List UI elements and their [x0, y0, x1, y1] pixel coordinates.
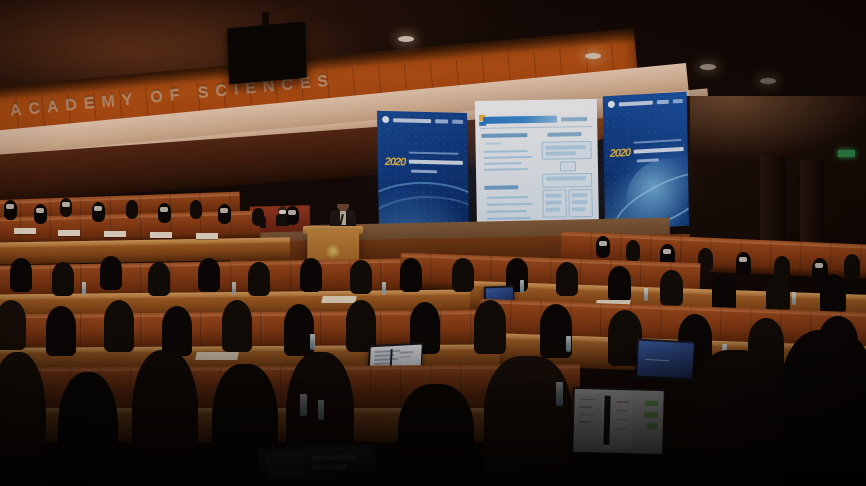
name-card: [14, 228, 36, 234]
chat-bubble: [644, 400, 658, 406]
organizer-name-text: [619, 100, 653, 106]
attendee: [626, 240, 640, 262]
attendee: [52, 262, 74, 296]
attendee: [596, 236, 610, 258]
water-bottle: [82, 282, 86, 295]
water-bottle: [556, 382, 563, 406]
podium-emblem-icon: [326, 244, 340, 258]
ceiling-downlight: [398, 36, 414, 42]
organizer-logo-icon: [608, 101, 615, 108]
ceiling-projector-box: [227, 22, 307, 85]
attendee: [158, 203, 171, 223]
chat-bubble: [644, 412, 658, 418]
attendee: [608, 266, 631, 302]
attendee: [248, 262, 270, 296]
name-card: [150, 232, 172, 238]
attendee: [34, 204, 47, 224]
exit-sign: [838, 150, 855, 157]
attendee: [452, 258, 474, 292]
attendee-foreground: [484, 356, 572, 486]
attendee-foreground: [398, 384, 474, 486]
attendee: [46, 306, 76, 356]
slide-section-heading-1: [481, 133, 527, 138]
name-card: [196, 233, 218, 239]
attendee: [844, 254, 860, 280]
attendee: [556, 262, 578, 296]
right-banner-screen: 2020: [603, 92, 689, 231]
attendee-foreground: [690, 350, 780, 486]
right-banner-year: 2020: [610, 147, 631, 160]
organizer-logo-icon: [382, 116, 389, 123]
conference-hall-photo: ACADEMY OF SCIENCES 2020: [0, 0, 866, 486]
laptop-chat-app[interactable]: [571, 387, 665, 455]
organizer-name-text: [393, 118, 431, 123]
water-bottle: [792, 292, 796, 305]
attendee: [300, 258, 322, 292]
sponsor-logo-icon: [673, 98, 683, 103]
water-bottle: [644, 288, 648, 301]
ceiling-downlight: [585, 53, 601, 59]
attendee: [400, 258, 422, 292]
water-bottle: [232, 282, 236, 295]
attendee: [252, 208, 264, 226]
sponsor-logo-icon: [435, 119, 448, 123]
attendee: [350, 260, 372, 294]
paper-handout: [195, 352, 239, 360]
attendee: [736, 252, 751, 276]
attendee: [104, 300, 134, 352]
attendee: [286, 206, 299, 225]
name-card: [58, 230, 80, 236]
attendee: [162, 306, 192, 356]
ceiling-downlight: [760, 78, 776, 84]
water-bottle: [310, 334, 315, 350]
attendee: [474, 300, 506, 354]
center-presentation-screen: [475, 99, 599, 239]
tablet-foreground[interactable]: [257, 444, 376, 486]
attendee: [10, 258, 32, 292]
attendee-foreground: [0, 352, 46, 486]
water-bottle: [318, 400, 324, 420]
name-card: [104, 231, 126, 237]
attendee: [4, 200, 17, 220]
chat-sidebar[interactable]: [576, 393, 601, 446]
attendee: [60, 198, 72, 217]
attendee: [198, 258, 220, 292]
left-banner-year: 2020: [385, 156, 406, 168]
attendee: [218, 204, 231, 224]
slide-section-heading-2: [484, 185, 518, 190]
chat-media-panel: [603, 395, 611, 444]
attendee: [148, 262, 170, 296]
sponsor-logo-icon: [657, 99, 669, 104]
attendee: [222, 300, 252, 352]
water-bottle: [300, 394, 307, 416]
slide-title: [483, 116, 557, 124]
laptop-blue-wallpaper[interactable]: [635, 339, 695, 380]
water-bottle: [566, 336, 571, 352]
attendee: [190, 200, 202, 219]
attendee: [126, 200, 138, 219]
attendee: [660, 270, 683, 306]
attendee: [820, 274, 846, 314]
sponsor-logo-icon: [452, 119, 463, 123]
attendee-foreground: [780, 330, 866, 486]
chat-bubble: [647, 423, 658, 429]
water-bottle: [520, 280, 524, 293]
attendee: [0, 300, 26, 350]
attendee: [92, 202, 105, 222]
slide-diagram-node: [560, 161, 576, 171]
slide-diagram-header: [547, 132, 581, 137]
ceiling-downlight: [700, 64, 716, 70]
water-bottle: [382, 282, 386, 295]
paper-handout: [321, 296, 356, 303]
attendee-foreground: [58, 372, 118, 486]
attendee: [100, 256, 122, 290]
slide-title-note: [561, 117, 587, 121]
attendee-foreground: [132, 350, 198, 486]
